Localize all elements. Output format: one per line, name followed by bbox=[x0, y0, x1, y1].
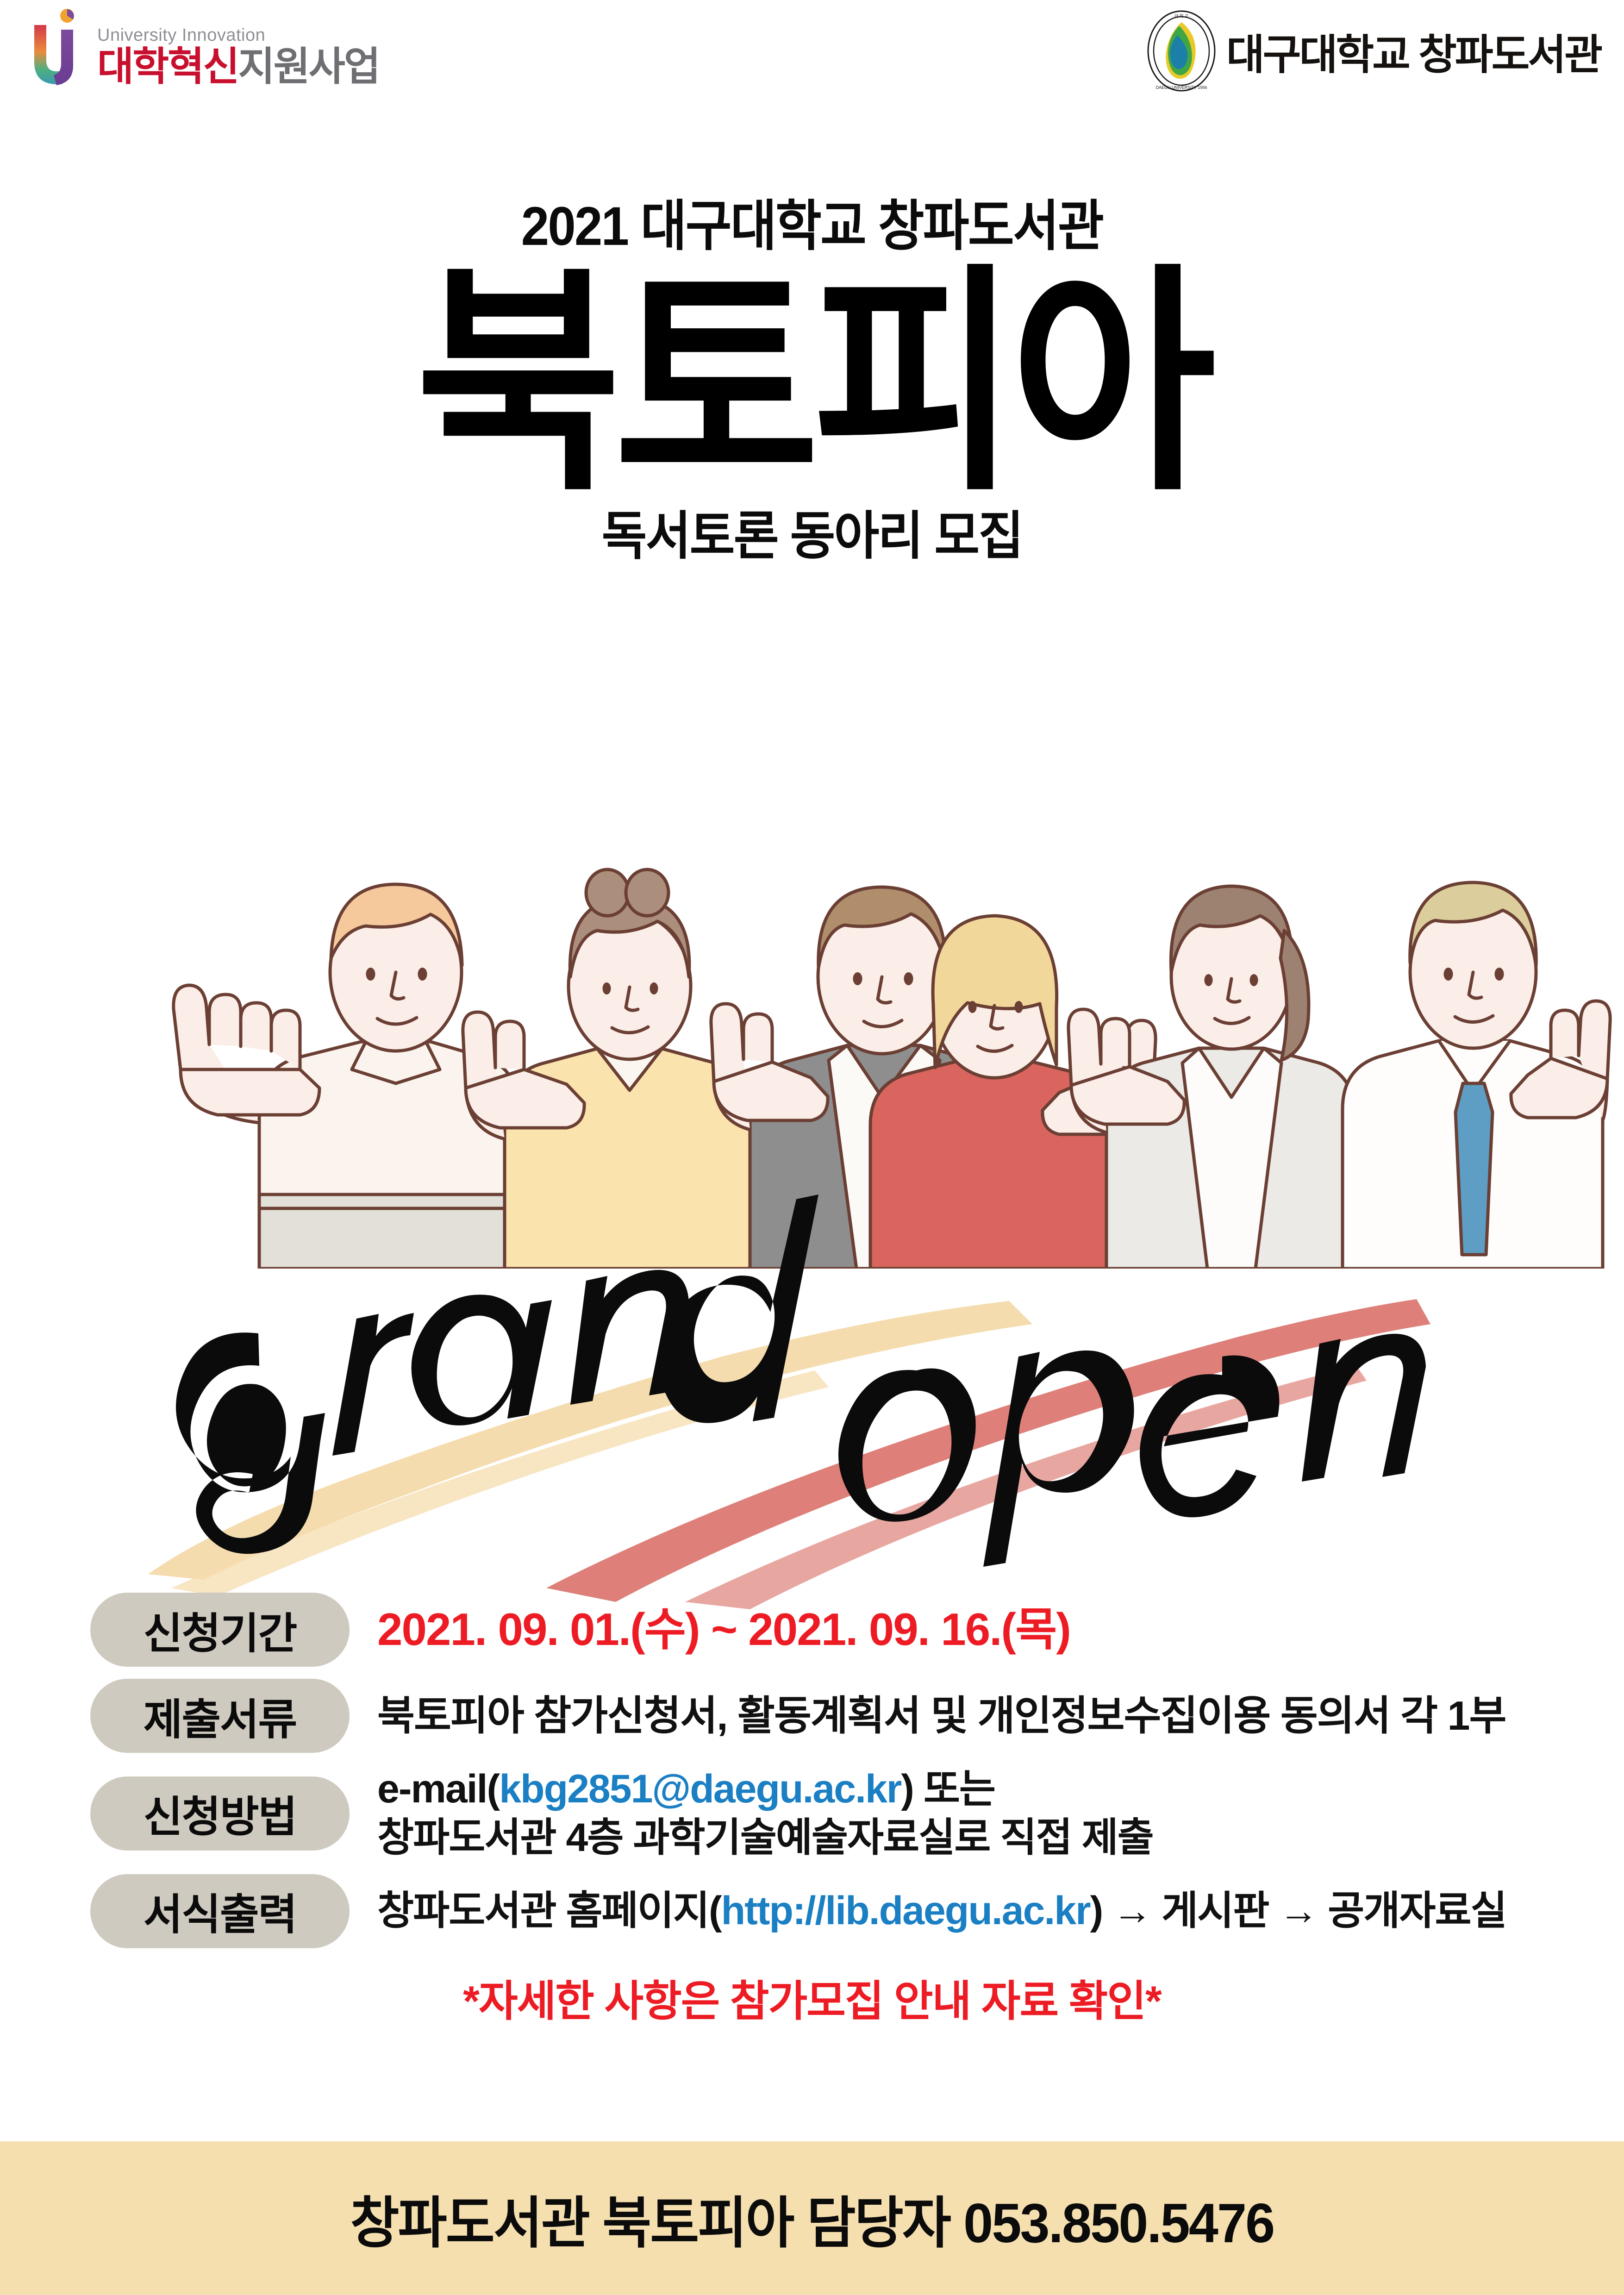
info-label-method: 신청방법 bbox=[90, 1776, 350, 1851]
method-email-prefix: e-mail( bbox=[377, 1767, 499, 1811]
info-value-method-line1: e-mail(kbg2851@daegu.ac.kr) 또는 bbox=[377, 1765, 1153, 1813]
svg-text:· 대 학 교 ·: · 대 학 교 · bbox=[1172, 14, 1191, 19]
poster-eyebrow: 2021 대구대학교 창파도서관 bbox=[65, 199, 1559, 254]
ui-logo-korean-red: 대학혁신 bbox=[97, 44, 238, 89]
info-value-method-line2: 창파도서관 4층 과학기술예술자료실로 직접 제출 bbox=[377, 1813, 1153, 1862]
info-row-documents: 제출서류 북토피아 참가신청서, 활동계획서 및 개인정보수집이용 동의서 각 … bbox=[0, 1679, 1624, 1753]
university-innovation-logo: University Innovation 대학혁신지원사업 bbox=[28, 8, 379, 89]
grand-open-artwork bbox=[0, 1171, 1624, 1611]
poster-header: University Innovation 대학혁신지원사업 · 대 학 교 ·… bbox=[0, 0, 1624, 120]
info-value-method: e-mail(kbg2851@daegu.ac.kr) 또는 창파도서관 4층 … bbox=[377, 1765, 1153, 1862]
title-block: 2021 대구대학교 창파도서관 북토피아 독서토론 동아리 모집 bbox=[0, 199, 1624, 562]
info-value-period: 2021. 09. 01.(수) ~ 2021. 09. 16.(목) bbox=[377, 1602, 1070, 1657]
info-label-period: 신청기간 bbox=[90, 1593, 350, 1667]
info-value-documents: 북토피아 참가신청서, 활동계획서 및 개인정보수집이용 동의서 각 1부 bbox=[377, 1691, 1505, 1740]
form-url-suffix: ) → 게시판 → 공개자료실 bbox=[1090, 1889, 1506, 1933]
info-section: 신청기간 2021. 09. 01.(수) ~ 2021. 09. 16.(목)… bbox=[0, 1593, 1624, 2028]
library-name-text: 대구대학교 창파도서관 bbox=[1226, 21, 1601, 81]
info-label-form: 서식출력 bbox=[90, 1874, 350, 1948]
ui-logo-text: University Innovation 대학혁신지원사업 bbox=[97, 26, 379, 89]
info-row-period: 신청기간 2021. 09. 01.(수) ~ 2021. 09. 16.(목) bbox=[0, 1593, 1624, 1667]
email-link[interactable]: kbg2851@daegu.ac.kr bbox=[499, 1767, 901, 1811]
library-website-link[interactable]: http://lib.daegu.ac.kr bbox=[721, 1889, 1090, 1933]
ui-flame-logo-icon bbox=[28, 8, 89, 89]
daegu-university-emblem-icon: · 대 학 교 · DAEGU UNIVERSITY 1956 bbox=[1147, 10, 1216, 92]
footer-contact-text: 창파도서관 북토피아 담당자 053.850.5476 bbox=[350, 2178, 1274, 2258]
poster-footer: 창파도서관 북토피아 담당자 053.850.5476 bbox=[0, 2141, 1624, 2295]
svg-text:DAEGU UNIVERSITY 1956: DAEGU UNIVERSITY 1956 bbox=[1156, 85, 1207, 90]
info-row-form: 서식출력 창파도서관 홈페이지(http://lib.daegu.ac.kr) … bbox=[0, 1874, 1624, 1948]
info-value-form: 창파도서관 홈페이지(http://lib.daegu.ac.kr) → 게시판… bbox=[377, 1887, 1506, 1935]
ui-logo-english: University Innovation bbox=[97, 26, 379, 44]
poster-subtitle: 독서토론 동아리 모집 bbox=[41, 510, 1584, 562]
ui-logo-korean: 대학혁신지원사업 bbox=[97, 47, 379, 87]
library-logo: · 대 학 교 · DAEGU UNIVERSITY 1956 대구대학교 창파… bbox=[1147, 10, 1601, 92]
poster-note: *자세한 사항은 참가모집 안내 자료 확인* bbox=[0, 1967, 1624, 2028]
info-row-method: 신청방법 e-mail(kbg2851@daegu.ac.kr) 또는 창파도서… bbox=[0, 1765, 1624, 1862]
info-label-documents: 제출서류 bbox=[90, 1679, 350, 1753]
poster-main-title: 북토피아 bbox=[57, 266, 1567, 502]
form-url-prefix: 창파도서관 홈페이지( bbox=[377, 1889, 721, 1933]
method-email-suffix: ) 또는 bbox=[901, 1767, 995, 1811]
ui-logo-korean-gray: 지원사업 bbox=[238, 44, 379, 89]
people-illustration bbox=[0, 607, 1624, 1269]
